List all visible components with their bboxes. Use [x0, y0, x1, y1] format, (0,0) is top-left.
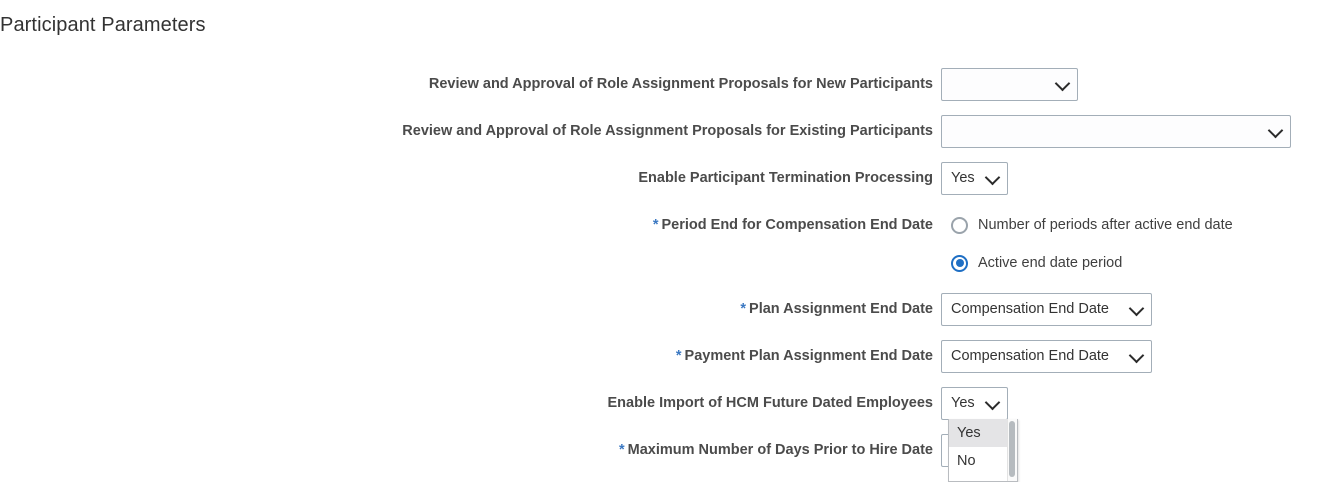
field-control-wrapper: [941, 115, 1291, 148]
select-value: Yes: [951, 169, 975, 187]
chevron-down-icon: [1055, 76, 1071, 92]
field-label-text: Plan Assignment End Date: [749, 301, 933, 317]
radio-option-number-of-periods[interactable]: Number of periods after active end date: [941, 217, 1233, 234]
form-row-review-approval-existing-participants: Review and Approval of Role Assignment P…: [0, 109, 1291, 153]
dropdown-scrollbar[interactable]: [1007, 419, 1017, 481]
chevron-down-icon: [1129, 348, 1145, 364]
field-label-payment-plan-assignment-end-date: *Payment Plan Assignment End Date: [0, 347, 941, 365]
select-enable-import-hcm-future-dated-employees[interactable]: Yes: [941, 387, 1008, 420]
page-title: Participant Parameters: [0, 14, 206, 37]
field-label-enable-participant-termination-processing: Enable Participant Termination Processin…: [0, 169, 941, 187]
form-row-enable-import-hcm-future-dated-employees: Enable Import of HCM Future Dated Employ…: [0, 381, 1008, 425]
field-label-maximum-number-of-days-prior-to-hire-date: *Maximum Number of Days Prior to Hire Da…: [0, 441, 941, 459]
radio-option-label: Active end date period: [978, 255, 1122, 271]
chevron-down-icon: [985, 170, 1001, 186]
form-row-review-approval-new-participants: Review and Approval of Role Assignment P…: [0, 62, 1078, 106]
select-review-approval-new-participants[interactable]: [941, 68, 1078, 101]
chevron-down-icon: [985, 395, 1001, 411]
radio-option-active-end-date-period[interactable]: Active end date period: [941, 255, 1122, 272]
field-label-text: Payment Plan Assignment End Date: [685, 348, 933, 364]
radio-button-selected[interactable]: [951, 255, 968, 272]
chevron-down-icon: [1129, 301, 1145, 317]
field-label-plan-assignment-end-date: *Plan Assignment End Date: [0, 300, 941, 318]
dropdown-options-popup[interactable]: Yes No: [948, 419, 1018, 482]
field-label-enable-import-hcm-future-dated-employees: Enable Import of HCM Future Dated Employ…: [0, 394, 941, 412]
select-payment-plan-assignment-end-date[interactable]: Compensation End Date: [941, 340, 1152, 373]
select-review-approval-existing-participants[interactable]: [941, 115, 1291, 148]
select-enable-participant-termination-processing[interactable]: Yes: [941, 162, 1008, 195]
radio-option-label: Number of periods after active end date: [978, 217, 1233, 233]
required-asterisk: *: [653, 217, 659, 233]
required-asterisk: *: [740, 301, 746, 317]
select-plan-assignment-end-date[interactable]: Compensation End Date: [941, 293, 1152, 326]
required-asterisk: *: [676, 348, 682, 364]
form-row-maximum-number-of-days-prior-to-hire-date: *Maximum Number of Days Prior to Hire Da…: [0, 428, 1008, 472]
select-value: Yes: [951, 394, 975, 412]
field-control-wrapper: Compensation End Date: [941, 340, 1152, 373]
radio-button-unselected[interactable]: [951, 217, 968, 234]
field-control-wrapper: [941, 68, 1078, 101]
field-control-wrapper: Yes: [941, 162, 1008, 195]
field-label-review-approval-new-participants: Review and Approval of Role Assignment P…: [0, 75, 941, 93]
form-row-payment-plan-assignment-end-date: *Payment Plan Assignment End Date Compen…: [0, 334, 1152, 378]
form-row-enable-participant-termination-processing: Enable Participant Termination Processin…: [0, 156, 1008, 200]
radio-option-row-active-end-date-period: Active end date period: [0, 248, 1122, 278]
form-row-period-end-for-compensation-end-date: *Period End for Compensation End Date Nu…: [0, 210, 1233, 240]
required-asterisk: *: [619, 442, 625, 458]
field-label-period-end-for-compensation-end-date: *Period End for Compensation End Date: [0, 216, 941, 234]
field-label-review-approval-existing-participants: Review and Approval of Role Assignment P…: [0, 122, 941, 140]
dropdown-scrollbar-thumb[interactable]: [1009, 421, 1015, 477]
field-control-wrapper: Yes: [941, 387, 1008, 420]
form-row-plan-assignment-end-date: *Plan Assignment End Date Compensation E…: [0, 287, 1152, 331]
select-value: Compensation End Date: [951, 347, 1109, 365]
chevron-down-icon: [1268, 123, 1284, 139]
select-value: Compensation End Date: [951, 300, 1109, 318]
field-label-text: Period End for Compensation End Date: [662, 217, 934, 233]
field-label-text: Maximum Number of Days Prior to Hire Dat…: [628, 442, 933, 458]
field-control-wrapper: Compensation End Date: [941, 293, 1152, 326]
